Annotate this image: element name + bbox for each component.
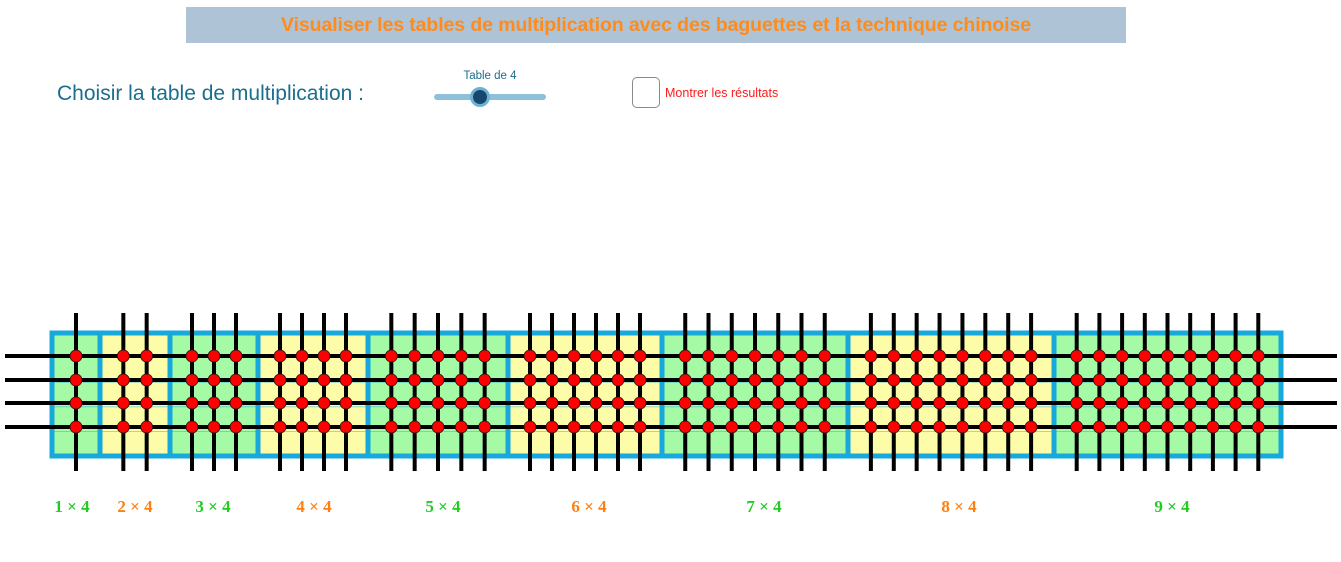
intersection-dot	[726, 397, 738, 409]
intersection-dot	[888, 374, 900, 386]
intersection-dot	[70, 350, 82, 362]
intersection-dot	[479, 421, 491, 433]
intersection-dot	[1162, 374, 1174, 386]
intersection-dot	[117, 397, 129, 409]
intersection-dot	[679, 397, 691, 409]
intersection-dot	[679, 350, 691, 362]
intersection-dot	[296, 374, 308, 386]
intersection-dot	[865, 374, 877, 386]
intersection-dot	[634, 421, 646, 433]
intersection-dot	[819, 421, 831, 433]
applet-root: Visualiser les tables de multiplication …	[0, 0, 1341, 562]
intersection-dot	[186, 421, 198, 433]
intersection-dot	[796, 374, 808, 386]
intersection-dot	[318, 374, 330, 386]
intersection-dot	[409, 397, 421, 409]
intersection-dot	[340, 397, 352, 409]
intersection-dot	[590, 374, 602, 386]
intersection-dot	[141, 397, 153, 409]
intersection-dot	[865, 350, 877, 362]
intersection-dot	[934, 421, 946, 433]
intersection-dot	[385, 421, 397, 433]
intersection-dot	[1139, 421, 1151, 433]
intersection-dot	[726, 421, 738, 433]
intersection-dot	[141, 350, 153, 362]
intersection-dot	[1002, 350, 1014, 362]
intersection-dot	[956, 397, 968, 409]
intersection-dot	[819, 397, 831, 409]
intersection-dot	[230, 350, 242, 362]
intersection-dot	[208, 374, 220, 386]
intersection-dot	[634, 350, 646, 362]
intersection-dot	[726, 350, 738, 362]
intersection-dot	[318, 397, 330, 409]
intersection-dot	[296, 421, 308, 433]
intersection-dot	[117, 350, 129, 362]
intersection-dot	[1116, 421, 1128, 433]
intersection-dot	[274, 350, 286, 362]
intersection-dot	[1252, 397, 1264, 409]
intersection-dot	[340, 350, 352, 362]
intersection-dot	[1252, 350, 1264, 362]
intersection-dot	[117, 374, 129, 386]
intersection-dot	[772, 397, 784, 409]
intersection-dot	[1071, 350, 1083, 362]
intersection-dot	[1116, 374, 1128, 386]
intersection-dot	[70, 421, 82, 433]
intersection-dot	[772, 421, 784, 433]
intersection-dot	[208, 350, 220, 362]
intersection-dot	[934, 397, 946, 409]
intersection-dot	[455, 350, 467, 362]
intersection-dot	[230, 421, 242, 433]
intersection-dot	[1162, 421, 1174, 433]
intersection-dot	[911, 397, 923, 409]
intersection-dot	[612, 374, 624, 386]
intersection-dot	[524, 421, 536, 433]
intersection-dot	[590, 350, 602, 362]
intersection-dot	[296, 350, 308, 362]
intersection-dot	[1025, 374, 1037, 386]
intersection-dot	[432, 374, 444, 386]
intersection-dot	[703, 421, 715, 433]
product-label-4: 4 × 4	[296, 497, 331, 517]
intersection-dot	[934, 350, 946, 362]
intersection-dot	[1252, 421, 1264, 433]
intersection-dot	[524, 374, 536, 386]
intersection-dot	[546, 374, 558, 386]
intersection-dot	[432, 350, 444, 362]
intersection-dot	[186, 350, 198, 362]
intersection-dot	[956, 374, 968, 386]
intersection-dot	[703, 397, 715, 409]
intersection-dot	[796, 421, 808, 433]
intersection-dot	[141, 421, 153, 433]
intersection-dot	[956, 421, 968, 433]
intersection-dot	[318, 350, 330, 362]
intersection-dot	[455, 397, 467, 409]
intersection-dot	[772, 374, 784, 386]
intersection-dot	[749, 374, 761, 386]
intersection-dot	[888, 397, 900, 409]
intersection-dot	[385, 374, 397, 386]
intersection-dot	[186, 397, 198, 409]
intersection-dot	[1207, 397, 1219, 409]
intersection-dot	[979, 350, 991, 362]
intersection-dot	[340, 374, 352, 386]
product-label-8: 8 × 4	[941, 497, 976, 517]
intersection-dot	[1002, 397, 1014, 409]
intersection-dot	[1230, 397, 1242, 409]
intersection-dot	[546, 350, 558, 362]
product-label-3: 3 × 4	[195, 497, 230, 517]
intersection-dot	[1025, 350, 1037, 362]
intersection-dot	[590, 421, 602, 433]
intersection-dot	[568, 397, 580, 409]
intersection-dot	[1139, 397, 1151, 409]
intersection-dot	[141, 374, 153, 386]
multiplication-diagram	[0, 0, 1341, 562]
intersection-dot	[385, 397, 397, 409]
intersection-dot	[524, 350, 536, 362]
intersection-dot	[230, 397, 242, 409]
intersection-dot	[865, 397, 877, 409]
intersection-dot	[819, 374, 831, 386]
intersection-dot	[888, 421, 900, 433]
intersection-dot	[590, 397, 602, 409]
intersection-dot	[432, 397, 444, 409]
intersection-dot	[1093, 421, 1105, 433]
intersection-dot	[934, 374, 946, 386]
intersection-dot	[230, 374, 242, 386]
intersection-dot	[432, 421, 444, 433]
intersection-dot	[1002, 374, 1014, 386]
intersection-dot	[1184, 374, 1196, 386]
intersection-dot	[1184, 421, 1196, 433]
intersection-dot	[1252, 374, 1264, 386]
intersection-dot	[296, 397, 308, 409]
intersection-dot	[634, 374, 646, 386]
intersection-dot	[612, 421, 624, 433]
intersection-dot	[568, 350, 580, 362]
intersection-dot	[911, 350, 923, 362]
group-block-4[interactable]	[258, 333, 368, 456]
intersection-dot	[524, 397, 536, 409]
intersection-dot	[1116, 397, 1128, 409]
intersection-dot	[1071, 397, 1083, 409]
intersection-dot	[1116, 350, 1128, 362]
intersection-dot	[274, 374, 286, 386]
product-label-7: 7 × 4	[746, 497, 781, 517]
intersection-dot	[70, 374, 82, 386]
intersection-dot	[749, 350, 761, 362]
intersection-dot	[979, 397, 991, 409]
intersection-dot	[612, 397, 624, 409]
intersection-dot	[1162, 350, 1174, 362]
intersection-dot	[979, 374, 991, 386]
intersection-dot	[1230, 350, 1242, 362]
intersection-dot	[1139, 374, 1151, 386]
intersection-dot	[186, 374, 198, 386]
product-label-9: 9 × 4	[1154, 497, 1189, 517]
intersection-dot	[1093, 397, 1105, 409]
intersection-dot	[772, 350, 784, 362]
intersection-dot	[1139, 350, 1151, 362]
intersection-dot	[1184, 397, 1196, 409]
intersection-dot	[911, 374, 923, 386]
product-label-1: 1 × 4	[54, 497, 89, 517]
intersection-dot	[749, 421, 761, 433]
intersection-dot	[455, 374, 467, 386]
intersection-dot	[1071, 374, 1083, 386]
intersection-dot	[568, 374, 580, 386]
intersection-dot	[634, 397, 646, 409]
intersection-dot	[1207, 350, 1219, 362]
intersection-dot	[568, 421, 580, 433]
intersection-dot	[1071, 421, 1083, 433]
intersection-dot	[612, 350, 624, 362]
intersection-dot	[1230, 374, 1242, 386]
intersection-dot	[117, 421, 129, 433]
intersection-dot	[274, 421, 286, 433]
intersection-dot	[1230, 421, 1242, 433]
intersection-dot	[546, 421, 558, 433]
intersection-dot	[1207, 421, 1219, 433]
intersection-dot	[819, 350, 831, 362]
intersection-dot	[679, 421, 691, 433]
intersection-dot	[1207, 374, 1219, 386]
intersection-dot	[340, 421, 352, 433]
intersection-dot	[796, 350, 808, 362]
intersection-dot	[865, 421, 877, 433]
intersection-dot	[1093, 350, 1105, 362]
intersection-dot	[703, 374, 715, 386]
intersection-dot	[479, 374, 491, 386]
intersection-dot	[409, 374, 421, 386]
intersection-dot	[1184, 350, 1196, 362]
intersection-dot	[70, 397, 82, 409]
intersection-dot	[1025, 421, 1037, 433]
intersection-dot	[1025, 397, 1037, 409]
intersection-dot	[409, 350, 421, 362]
intersection-dot	[479, 397, 491, 409]
intersection-dot	[208, 421, 220, 433]
intersection-dot	[911, 421, 923, 433]
intersection-dot	[1093, 374, 1105, 386]
intersection-dot	[1162, 397, 1174, 409]
intersection-dot	[796, 397, 808, 409]
intersection-dot	[749, 397, 761, 409]
group-block-2[interactable]	[100, 333, 170, 456]
intersection-dot	[409, 421, 421, 433]
intersection-dot	[274, 397, 286, 409]
product-label-6: 6 × 4	[571, 497, 606, 517]
intersection-dot	[208, 397, 220, 409]
intersection-dot	[703, 350, 715, 362]
intersection-dot	[318, 421, 330, 433]
group-block-8[interactable]	[848, 333, 1054, 456]
intersection-dot	[546, 397, 558, 409]
product-label-5: 5 × 4	[425, 497, 460, 517]
intersection-dot	[679, 374, 691, 386]
intersection-dot	[888, 350, 900, 362]
intersection-dot	[726, 374, 738, 386]
intersection-dot	[455, 421, 467, 433]
intersection-dot	[956, 350, 968, 362]
intersection-dot	[479, 350, 491, 362]
intersection-dot	[385, 350, 397, 362]
intersection-dot	[1002, 421, 1014, 433]
intersection-dot	[979, 421, 991, 433]
product-label-2: 2 × 4	[117, 497, 152, 517]
